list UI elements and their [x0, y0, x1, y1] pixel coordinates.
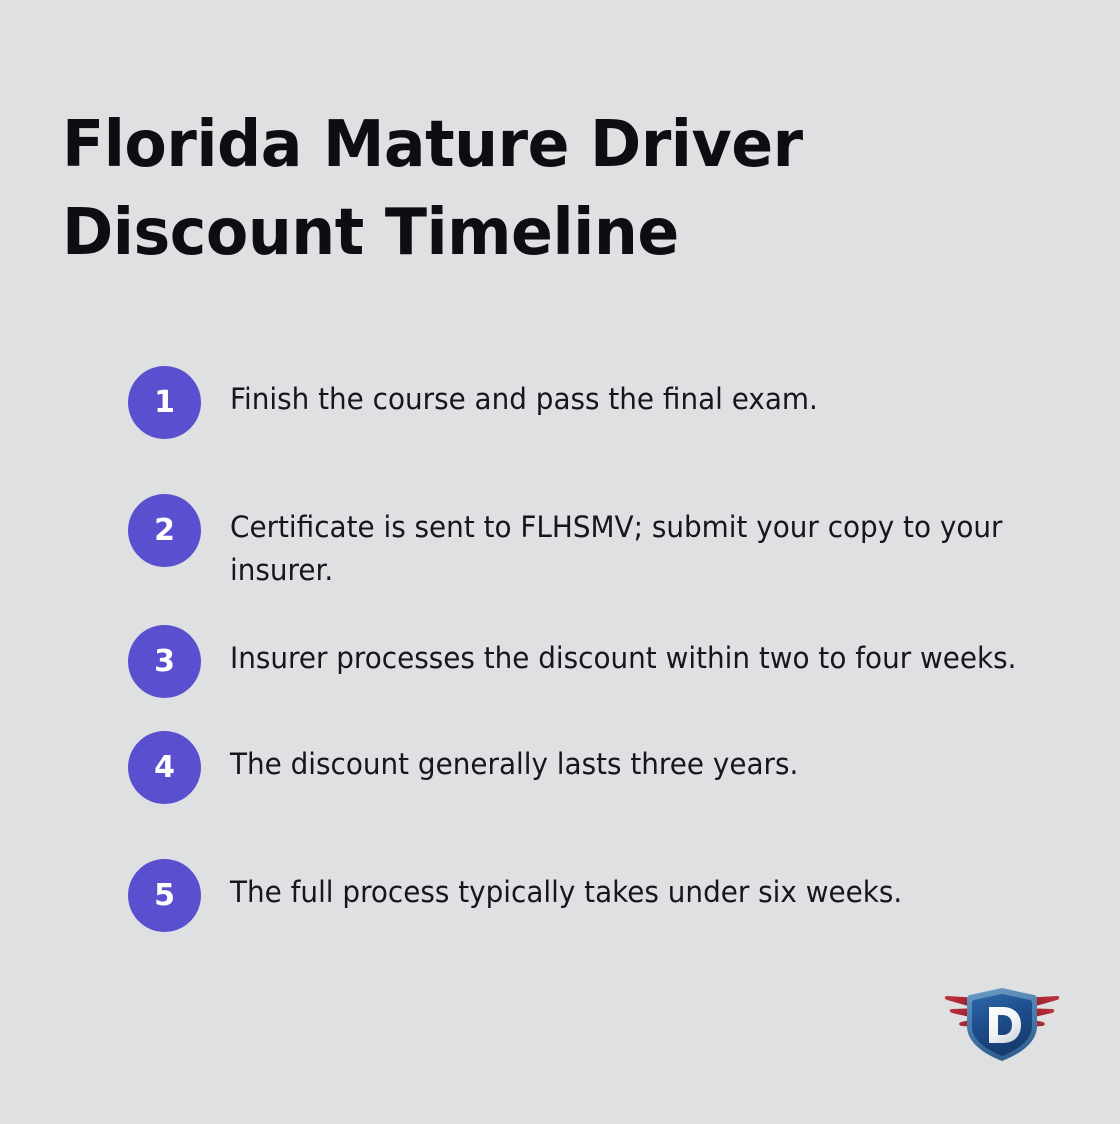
step-number-badge: 5: [128, 859, 201, 932]
list-item: 3 Insurer processes the discount within …: [128, 625, 1053, 698]
step-number-badge: 3: [128, 625, 201, 698]
infographic-canvas: Florida Mature Driver Discount Timeline …: [0, 0, 1120, 1124]
list-item: 1 Finish the course and pass the final e…: [128, 366, 1053, 439]
winged-shield-d-icon: [941, 982, 1063, 1064]
list-item: 5 The full process typically takes under…: [128, 859, 1053, 932]
title-block: Florida Mature Driver Discount Timeline: [62, 101, 1062, 277]
step-number-badge: 4: [128, 731, 201, 804]
page-title: Florida Mature Driver Discount Timeline: [62, 101, 1027, 277]
step-number-badge: 1: [128, 366, 201, 439]
step-description: The full process typically takes under s…: [230, 859, 1020, 914]
winged-shield-d-logo: [941, 982, 1063, 1064]
step-description: The discount generally lasts three years…: [230, 731, 1020, 786]
step-description: Insurer processes the discount within tw…: [230, 625, 1020, 680]
timeline-step-list: 1 Finish the course and pass the final e…: [128, 366, 1053, 987]
list-item: 4 The discount generally lasts three yea…: [128, 731, 1053, 804]
step-description: Finish the course and pass the final exa…: [230, 366, 1020, 421]
step-number-badge: 2: [128, 494, 201, 567]
step-description: Certificate is sent to FLHSMV; submit yo…: [230, 494, 1020, 592]
list-item: 2 Certificate is sent to FLHSMV; submit …: [128, 494, 1053, 592]
